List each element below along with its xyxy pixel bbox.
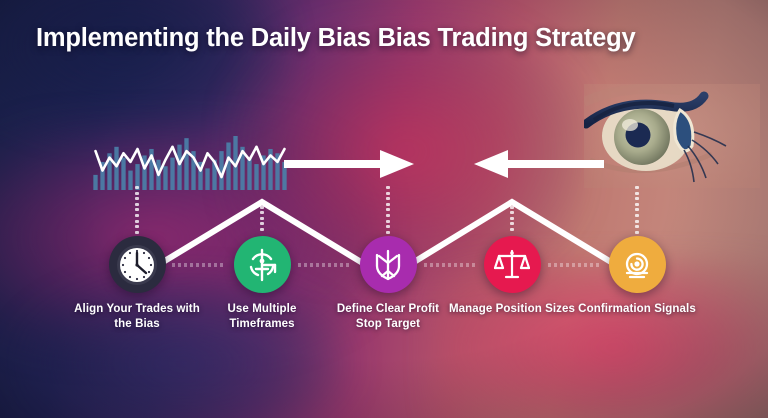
- infographic-canvas: Implementing the Daily Bias Bias Trading…: [0, 0, 768, 418]
- spiral-signal-icon: [619, 247, 655, 283]
- step-2-badge[interactable]: [234, 236, 291, 293]
- arrow-right-icon: [284, 146, 418, 182]
- crosshair-target-icon: [244, 247, 280, 283]
- step-1-align-your-trades[interactable]: Align Your Trades with the Bias: [67, 236, 207, 332]
- dotted-line-step-1: [135, 186, 139, 234]
- arrow-left-icon: [470, 146, 604, 182]
- shield-icon: [370, 247, 406, 283]
- page-title: Implementing the Daily Bias Bias Trading…: [36, 24, 636, 53]
- step-4-manage-position-sizes[interactable]: Manage Position Sizes: [442, 236, 582, 317]
- step-5-label: Confirmation Signals: [567, 302, 707, 317]
- step-2-label: Use Multiple Timeframes: [192, 302, 332, 332]
- step-4-label: Manage Position Sizes: [442, 302, 582, 317]
- step-3-define-clear-profit-stop-target[interactable]: Define Clear Profit Stop Target: [318, 236, 458, 332]
- step-4-badge[interactable]: [484, 236, 541, 293]
- step-5-badge[interactable]: [609, 236, 666, 293]
- step-1-badge[interactable]: [109, 236, 166, 293]
- step-3-label: Define Clear Profit Stop Target: [318, 302, 458, 332]
- step-3-badge[interactable]: [360, 236, 417, 293]
- trading-bar-chart: [92, 128, 288, 190]
- balance-scales-icon: [494, 247, 530, 283]
- step-2-use-multiple-timeframes[interactable]: Use Multiple Timeframes: [192, 236, 332, 332]
- eye-illustration: [584, 84, 760, 188]
- clock-icon: [115, 243, 159, 287]
- dotted-line-step-3: [386, 186, 390, 234]
- dotted-line-step-2: [260, 200, 264, 234]
- dotted-line-step-5: [635, 186, 639, 234]
- step-5-confirmation-signals[interactable]: Confirmation Signals: [567, 236, 707, 317]
- step-1-label: Align Your Trades with the Bias: [67, 302, 207, 332]
- dotted-line-step-4: [510, 200, 514, 234]
